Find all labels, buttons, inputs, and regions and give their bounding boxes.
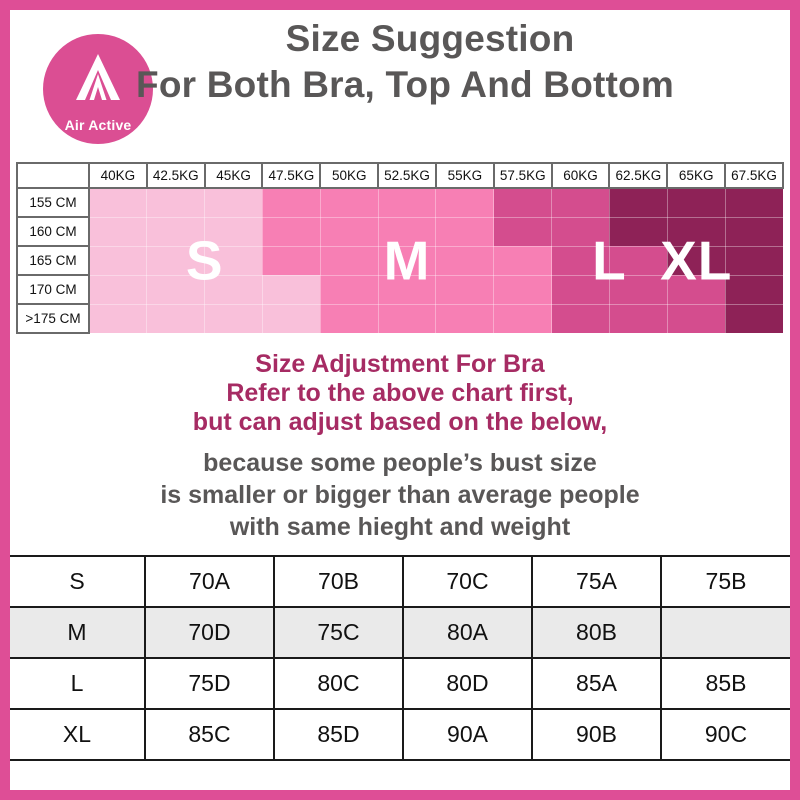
matrix-cell-s bbox=[89, 188, 147, 217]
bra-cup-cell: 90B bbox=[532, 709, 661, 760]
bra-cup-cell: 75D bbox=[145, 658, 274, 709]
bra-cup-cell: 80C bbox=[274, 658, 403, 709]
bra-cup-cell: 80D bbox=[403, 658, 532, 709]
matrix-cell-xl bbox=[725, 217, 783, 246]
weight-column-header: 52.5KG bbox=[378, 163, 436, 188]
matrix-cell-m bbox=[378, 304, 436, 333]
matrix-cell-xl bbox=[667, 246, 725, 275]
matrix-cell-m bbox=[378, 246, 436, 275]
matrix-row: 170 CM bbox=[17, 275, 783, 304]
matrix-cell-xl bbox=[667, 217, 725, 246]
matrix-cell-s bbox=[147, 217, 205, 246]
matrix-cell-m bbox=[436, 304, 494, 333]
adjustment-heading: Size Adjustment For Bra bbox=[10, 350, 790, 379]
matrix-cell-s bbox=[147, 246, 205, 275]
matrix-row: >175 CM bbox=[17, 304, 783, 333]
matrix-cell-l bbox=[609, 246, 667, 275]
matrix-cell-l bbox=[609, 304, 667, 333]
weight-column-header: 65KG bbox=[667, 163, 725, 188]
size-matrix-table: 40KG42.5KG45KG47.5KG50KG52.5KG55KG57.5KG… bbox=[16, 162, 784, 334]
matrix-cell-m bbox=[494, 304, 552, 333]
size-chart-page: Air Active Size Suggestion For Both Bra,… bbox=[0, 0, 800, 800]
bra-cup-cell: 70D bbox=[145, 607, 274, 658]
weight-column-header: 42.5KG bbox=[147, 163, 205, 188]
height-row-header: >175 CM bbox=[17, 304, 89, 333]
matrix-cell-m bbox=[436, 188, 494, 217]
bra-cup-cell: 85B bbox=[661, 658, 790, 709]
bra-cup-cell: 75A bbox=[532, 556, 661, 607]
bra-size-label: XL bbox=[10, 709, 145, 760]
adjustment-line-2: Refer to the above chart first, bbox=[10, 379, 790, 408]
matrix-cell-m bbox=[262, 246, 320, 275]
height-row-header: 160 CM bbox=[17, 217, 89, 246]
adjustment-note-1: because some people’s bust size bbox=[10, 447, 790, 479]
matrix-cell-xl bbox=[725, 246, 783, 275]
matrix-cell-s bbox=[262, 304, 320, 333]
bra-size-label: S bbox=[10, 556, 145, 607]
header: Air Active Size Suggestion For Both Bra,… bbox=[10, 10, 790, 162]
matrix-cell-m bbox=[378, 217, 436, 246]
matrix-cell-m bbox=[436, 217, 494, 246]
matrix-cell-s bbox=[89, 275, 147, 304]
adjustment-note-2: is smaller or bigger than average people bbox=[10, 479, 790, 511]
matrix-cell-s bbox=[89, 304, 147, 333]
matrix-body: 155 CM160 CM165 CM170 CM>175 CM bbox=[17, 188, 783, 333]
bra-cup-cell: 85A bbox=[532, 658, 661, 709]
matrix-cell-l bbox=[552, 304, 610, 333]
bra-cup-cell: 90A bbox=[403, 709, 532, 760]
matrix-cell-xl bbox=[725, 275, 783, 304]
bra-cup-cell: 70C bbox=[403, 556, 532, 607]
matrix-cell-m bbox=[320, 188, 378, 217]
bra-cup-cell: 85D bbox=[274, 709, 403, 760]
bra-size-table: S70A70B70C75A75BM70D75C80A80BL75D80C80D8… bbox=[10, 555, 790, 761]
matrix-cell-m bbox=[320, 304, 378, 333]
weight-column-header: 60KG bbox=[552, 163, 610, 188]
bra-size-label: M bbox=[10, 607, 145, 658]
height-row-header: 155 CM bbox=[17, 188, 89, 217]
adjustment-text-block: Size Adjustment For Bra Refer to the abo… bbox=[10, 334, 790, 543]
matrix-cell-m bbox=[320, 217, 378, 246]
matrix-cell-m bbox=[378, 275, 436, 304]
weight-column-header: 40KG bbox=[89, 163, 147, 188]
height-row-header: 165 CM bbox=[17, 246, 89, 275]
text-spacer bbox=[10, 437, 790, 447]
matrix-cell-m bbox=[436, 275, 494, 304]
matrix-cell-l bbox=[494, 188, 552, 217]
matrix-cell-l bbox=[552, 217, 610, 246]
matrix-cell-l bbox=[667, 275, 725, 304]
weight-column-header: 55KG bbox=[436, 163, 494, 188]
weight-column-header: 45KG bbox=[205, 163, 263, 188]
title-line-1: Size Suggestion bbox=[10, 16, 790, 62]
matrix-cell-xl bbox=[725, 188, 783, 217]
brand-name: Air Active bbox=[65, 118, 132, 132]
adjustment-line-3: but can adjust based on the below, bbox=[10, 408, 790, 437]
matrix-cell-s bbox=[262, 275, 320, 304]
matrix-cell-xl bbox=[609, 217, 667, 246]
matrix-row: 165 CM bbox=[17, 246, 783, 275]
matrix-cell-m bbox=[262, 188, 320, 217]
bra-cup-cell: 75B bbox=[661, 556, 790, 607]
matrix-row: 160 CM bbox=[17, 217, 783, 246]
matrix-cell-s bbox=[205, 304, 263, 333]
matrix-cell-m bbox=[262, 217, 320, 246]
bra-cup-cell: 90C bbox=[661, 709, 790, 760]
matrix-cell-s bbox=[205, 217, 263, 246]
title-line-2: For Both Bra, Top And Bottom bbox=[10, 62, 790, 108]
matrix-cell-l bbox=[494, 217, 552, 246]
weight-column-header: 67.5KG bbox=[725, 163, 783, 188]
matrix-cell-l bbox=[552, 246, 610, 275]
bra-size-label: L bbox=[10, 658, 145, 709]
matrix-cell-l bbox=[552, 188, 610, 217]
matrix-cell-s bbox=[89, 217, 147, 246]
size-matrix: 40KG42.5KG45KG47.5KG50KG52.5KG55KG57.5KG… bbox=[10, 162, 790, 334]
matrix-cell-xl bbox=[609, 188, 667, 217]
matrix-cell-s bbox=[205, 246, 263, 275]
matrix-cell-xl bbox=[725, 304, 783, 333]
matrix-cell-l bbox=[609, 275, 667, 304]
weight-column-header: 47.5KG bbox=[262, 163, 320, 188]
matrix-header-row: 40KG42.5KG45KG47.5KG50KG52.5KG55KG57.5KG… bbox=[17, 163, 783, 188]
bra-cup-cell: 80B bbox=[532, 607, 661, 658]
matrix-cell-s bbox=[147, 188, 205, 217]
bra-table-row: S70A70B70C75A75B bbox=[10, 556, 790, 607]
matrix-cell-s bbox=[147, 304, 205, 333]
height-row-header: 170 CM bbox=[17, 275, 89, 304]
matrix-corner-cell bbox=[17, 163, 89, 188]
weight-column-header: 50KG bbox=[320, 163, 378, 188]
bra-cup-cell: 75C bbox=[274, 607, 403, 658]
matrix-cell-m bbox=[320, 246, 378, 275]
bra-cup-cell: 85C bbox=[145, 709, 274, 760]
bra-table-row: L75D80C80D85A85B bbox=[10, 658, 790, 709]
weight-column-header: 62.5KG bbox=[609, 163, 667, 188]
matrix-cell-s bbox=[205, 188, 263, 217]
matrix-cell-s bbox=[205, 275, 263, 304]
bra-table-row: XL85C85D90A90B90C bbox=[10, 709, 790, 760]
matrix-row: 155 CM bbox=[17, 188, 783, 217]
matrix-cell-m bbox=[320, 275, 378, 304]
matrix-cell-l bbox=[667, 304, 725, 333]
bra-cup-cell: 70A bbox=[145, 556, 274, 607]
bra-table-body: S70A70B70C75A75BM70D75C80A80BL75D80C80D8… bbox=[10, 556, 790, 760]
matrix-cell-m bbox=[436, 246, 494, 275]
adjustment-note-3: with same hieght and weight bbox=[10, 511, 790, 543]
matrix-cell-s bbox=[147, 275, 205, 304]
bra-cup-cell bbox=[661, 607, 790, 658]
matrix-cell-l bbox=[552, 275, 610, 304]
matrix-cell-xl bbox=[667, 188, 725, 217]
bra-table-row: M70D75C80A80B bbox=[10, 607, 790, 658]
bra-cup-cell: 70B bbox=[274, 556, 403, 607]
weight-column-header: 57.5KG bbox=[494, 163, 552, 188]
bra-cup-cell: 80A bbox=[403, 607, 532, 658]
matrix-cell-s bbox=[89, 246, 147, 275]
matrix-cell-m bbox=[494, 246, 552, 275]
page-title: Size Suggestion For Both Bra, Top And Bo… bbox=[10, 16, 790, 108]
matrix-cell-m bbox=[494, 275, 552, 304]
matrix-cell-m bbox=[378, 188, 436, 217]
